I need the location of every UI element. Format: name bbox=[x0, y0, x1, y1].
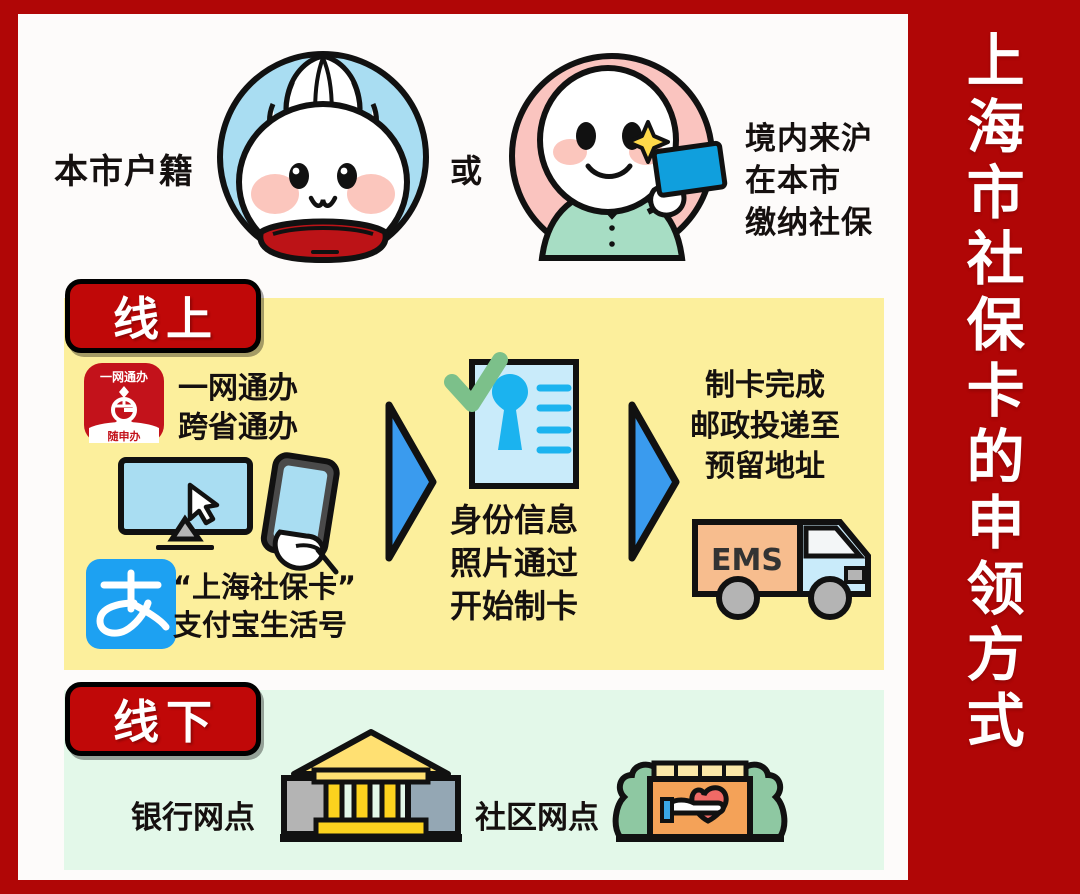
online-channel-two-line1: “上海社保卡” bbox=[173, 569, 356, 607]
community-center-icon bbox=[614, 737, 786, 849]
eligibility-label-local: 本市户籍 bbox=[54, 144, 194, 193]
poster-root: 本市户籍 或 境内来沪 在本市 缴纳社保 bbox=[0, 0, 1080, 894]
id-document-icon bbox=[446, 354, 591, 499]
online-channel-one-line1: 一网通办 bbox=[178, 369, 298, 408]
content-card: 本市户籍 或 境内来沪 在本市 缴纳社保 bbox=[18, 14, 908, 880]
ems-truck-icon: EMS bbox=[690, 504, 880, 622]
suishenban-app-icon[interactable]: 一网通办 随申办 bbox=[83, 362, 165, 444]
delivery-step-line1: 制卡完成 bbox=[690, 366, 840, 407]
eligibility-label-nonlocal-line3: 缴纳社保 bbox=[745, 203, 873, 245]
flow-arrow-one-icon bbox=[383, 399, 438, 564]
verification-step-line2: 照片通过 bbox=[450, 542, 578, 585]
eligibility-label-nonlocal: 境内来沪 在本市 缴纳社保 bbox=[745, 119, 873, 245]
online-badge: 线上 bbox=[65, 279, 261, 353]
alipay-icon[interactable] bbox=[86, 559, 176, 649]
online-channel-two-label: “上海社保卡” 支付宝生活号 bbox=[173, 569, 356, 644]
person-mascot-icon bbox=[508, 44, 728, 272]
eligibility-label-nonlocal-line1: 境内来沪 bbox=[745, 119, 873, 161]
verification-step-line1: 身份信息 bbox=[450, 499, 578, 542]
svg-text:随申办: 随申办 bbox=[108, 429, 141, 443]
poster-title-text: 上海市社保卡的申领方式 bbox=[960, 30, 1019, 756]
bank-branch-label: 银行网点 bbox=[131, 792, 255, 837]
svg-text:一网通办: 一网通办 bbox=[100, 369, 148, 384]
monitor-icon bbox=[118, 457, 253, 552]
online-channel-one-label: 一网通办 跨省通办 bbox=[178, 369, 298, 447]
verification-step-label: 身份信息 照片通过 开始制卡 bbox=[450, 499, 578, 629]
ems-truck-label: EMS bbox=[711, 543, 783, 578]
eligibility-connector: 或 bbox=[450, 146, 483, 192]
offline-badge: 线下 bbox=[65, 682, 261, 756]
xiaolongbao-mascot-icon bbox=[213, 42, 433, 272]
online-badge-label: 线上 bbox=[107, 283, 219, 349]
poster-title: 上海市社保卡的申领方式 bbox=[930, 30, 1050, 870]
online-channel-one-line2: 跨省通办 bbox=[178, 408, 298, 447]
hero-section: 本市户籍 或 境内来沪 在本市 缴纳社保 bbox=[18, 14, 908, 282]
bank-building-icon bbox=[276, 726, 466, 848]
delivery-step-line2: 邮政投递至 bbox=[690, 407, 840, 448]
offline-badge-label: 线下 bbox=[107, 686, 219, 752]
delivery-step-label: 制卡完成 邮政投递至 预留地址 bbox=[690, 366, 840, 488]
flow-arrow-two-icon bbox=[626, 399, 681, 564]
community-center-label: 社区网点 bbox=[475, 792, 599, 837]
eligibility-label-nonlocal-line2: 在本市 bbox=[745, 161, 873, 203]
delivery-step-line3: 预留地址 bbox=[690, 447, 840, 488]
verification-step-line3: 开始制卡 bbox=[450, 585, 578, 628]
online-channel-two-line2: 支付宝生活号 bbox=[173, 607, 356, 645]
